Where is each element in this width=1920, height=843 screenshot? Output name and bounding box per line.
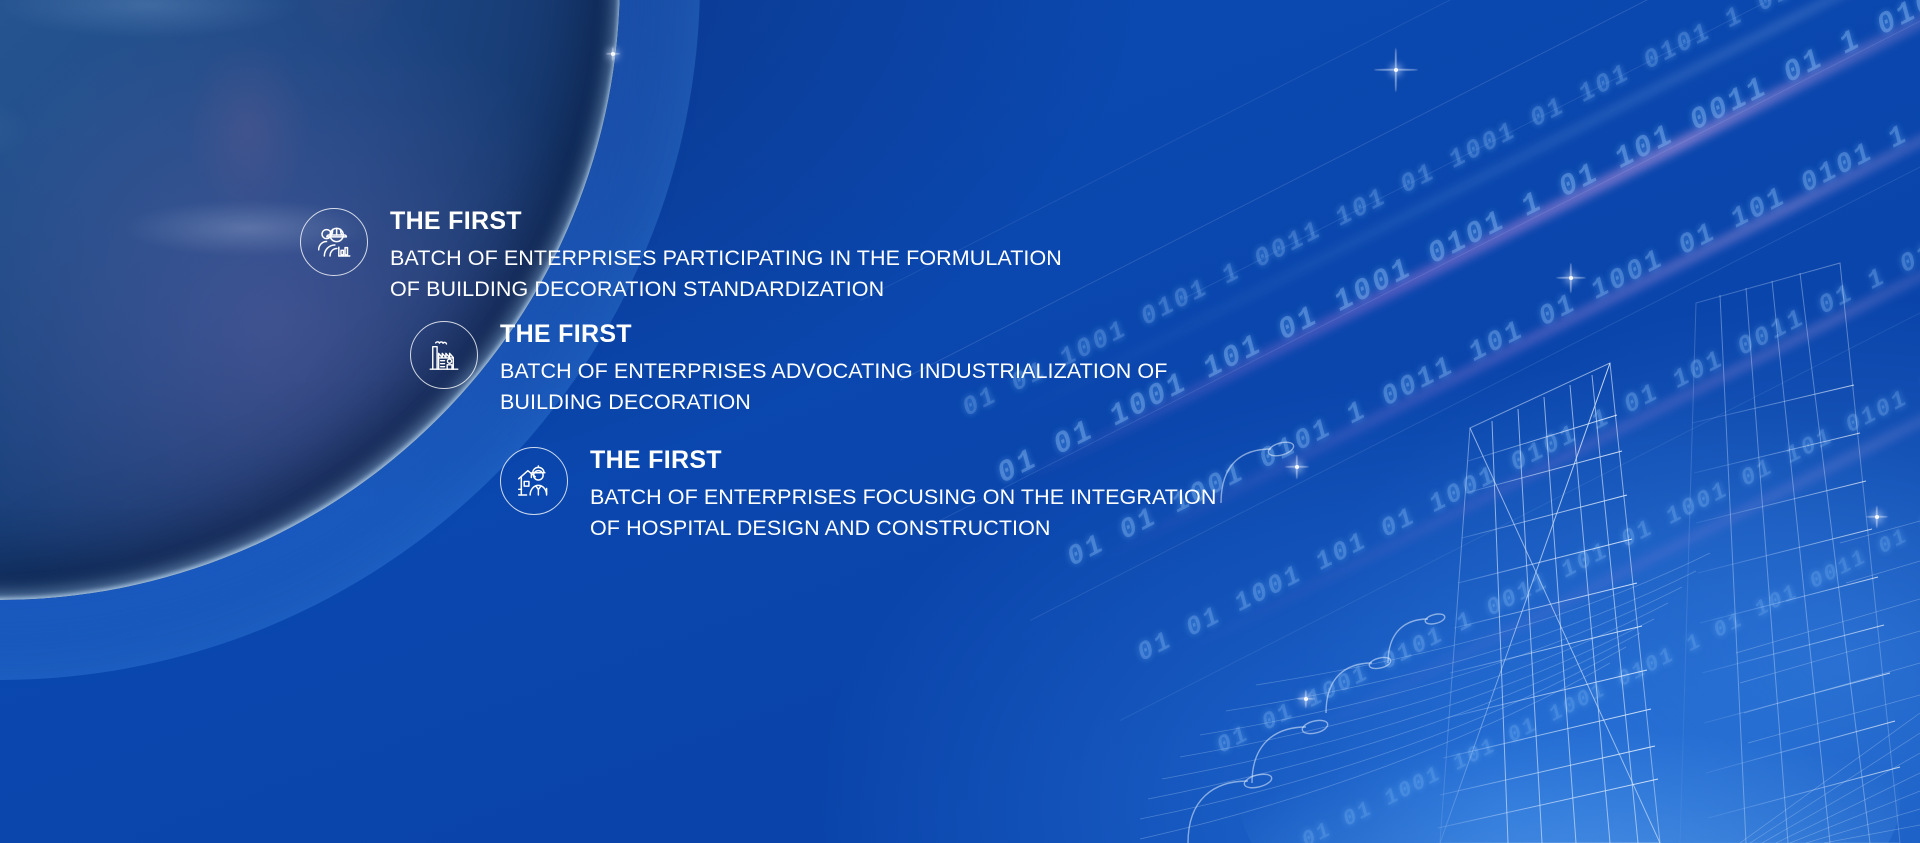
feature-text: THE FIRST BATCH OF ENTERPRISES ADVOCATIN… xyxy=(500,321,1167,417)
feature-line: BATCH OF ENTERPRISES ADVOCATING INDUSTRI… xyxy=(500,356,1167,387)
feature-text: THE FIRST BATCH OF ENTERPRISES PARTICIPA… xyxy=(390,208,1062,304)
feature-kicker: THE FIRST xyxy=(590,447,1216,473)
feature-text: THE FIRST BATCH OF ENTERPRISES FOCUSING … xyxy=(590,447,1216,543)
feature-kicker: THE FIRST xyxy=(390,208,1062,234)
worker-house-icon xyxy=(500,447,568,515)
feature-line: BUILDING DECORATION xyxy=(500,387,1167,418)
feature-line: OF BUILDING DECORATION STANDARDIZATION xyxy=(390,274,1062,305)
feature-line: OF HOSPITAL DESIGN AND CONSTRUCTION xyxy=(590,513,1216,544)
factory-icon xyxy=(410,321,478,389)
workers-hardhat-chart-icon xyxy=(300,208,368,276)
feature-kicker: THE FIRST xyxy=(500,321,1167,347)
feature-list: THE FIRST BATCH OF ENTERPRISES PARTICIPA… xyxy=(0,0,1920,843)
feature-item-standardization: THE FIRST BATCH OF ENTERPRISES PARTICIPA… xyxy=(300,208,1062,304)
feature-item-industrialization: THE FIRST BATCH OF ENTERPRISES ADVOCATIN… xyxy=(410,321,1167,417)
feature-item-hospital: THE FIRST BATCH OF ENTERPRISES FOCUSING … xyxy=(500,447,1216,543)
feature-line: BATCH OF ENTERPRISES PARTICIPATING IN TH… xyxy=(390,243,1062,274)
feature-line: BATCH OF ENTERPRISES FOCUSING ON THE INT… xyxy=(590,482,1216,513)
hero-banner: 01 01 1001 101 01 1001 0101 1 01 101 001… xyxy=(0,0,1920,843)
